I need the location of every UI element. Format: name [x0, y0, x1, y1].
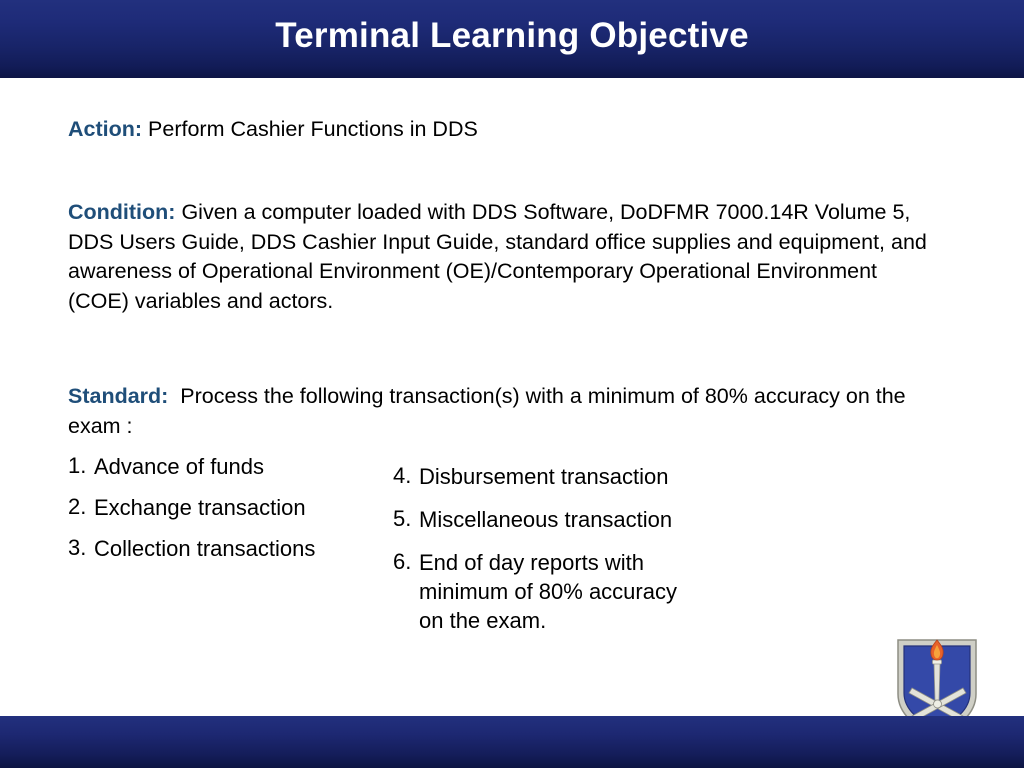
standard-paragraph: Standard: Process the following transact…	[68, 382, 928, 441]
action-label: Action:	[68, 117, 142, 141]
condition-label: Condition:	[68, 200, 175, 224]
action-text: Perform Cashier Functions in DDS	[148, 117, 478, 141]
list-item: 1.Advance of funds	[68, 452, 398, 481]
list-item-label: Miscellaneous transaction	[419, 505, 813, 534]
title-banner: Terminal Learning Objective	[0, 0, 1024, 78]
page-title: Terminal Learning Objective	[275, 18, 749, 53]
condition-text: Given a computer loaded with DDS Softwar…	[68, 200, 927, 313]
action-paragraph: Action: Perform Cashier Functions in DDS	[68, 115, 948, 145]
list-item-label: Exchange transaction	[94, 493, 398, 522]
list-item-number: 2.	[68, 493, 94, 522]
list-item-number: 4.	[393, 462, 419, 491]
slide: Terminal Learning Objective Action: Perf…	[0, 0, 1024, 768]
list-item-label: End of day reports with minimum of 80% a…	[419, 548, 813, 635]
list-item-label: Advance of funds	[94, 452, 398, 481]
list-item-number: 1.	[68, 452, 94, 481]
standard-text-spacer	[168, 384, 180, 408]
transaction-list-left-column: 1.Advance of funds2.Exchange transaction…	[68, 452, 398, 575]
standard-text: Process the following transaction(s) wit…	[68, 384, 906, 438]
list-item-number: 3.	[68, 534, 94, 563]
footer-bar	[0, 716, 1024, 768]
list-item: 2.Exchange transaction	[68, 493, 398, 522]
condition-block: Condition: Given a computer loaded with …	[68, 198, 928, 317]
condition-paragraph: Condition: Given a computer loaded with …	[68, 198, 928, 317]
list-item-label: Collection transactions	[94, 534, 398, 563]
list-item: 5.Miscellaneous transaction	[393, 505, 813, 534]
list-item: 4.Disbursement transaction	[393, 462, 813, 491]
numbered-list-left: 1.Advance of funds2.Exchange transaction…	[68, 452, 398, 563]
standard-label: Standard:	[68, 384, 168, 408]
action-block: Action: Perform Cashier Functions in DDS	[68, 115, 948, 145]
title-banner-inner: Terminal Learning Objective	[0, 0, 1024, 70]
list-item-number: 6.	[393, 548, 419, 577]
list-item: 6.End of day reports with minimum of 80%…	[393, 548, 813, 635]
numbered-list-right: 4.Disbursement transaction5.Miscellaneou…	[393, 462, 813, 635]
list-item: 3.Collection transactions	[68, 534, 398, 563]
list-item-number: 5.	[393, 505, 419, 534]
transaction-list-right-column: 4.Disbursement transaction5.Miscellaneou…	[393, 462, 813, 649]
list-item-label: Disbursement transaction	[419, 462, 813, 491]
standard-block: Standard: Process the following transact…	[68, 382, 928, 441]
